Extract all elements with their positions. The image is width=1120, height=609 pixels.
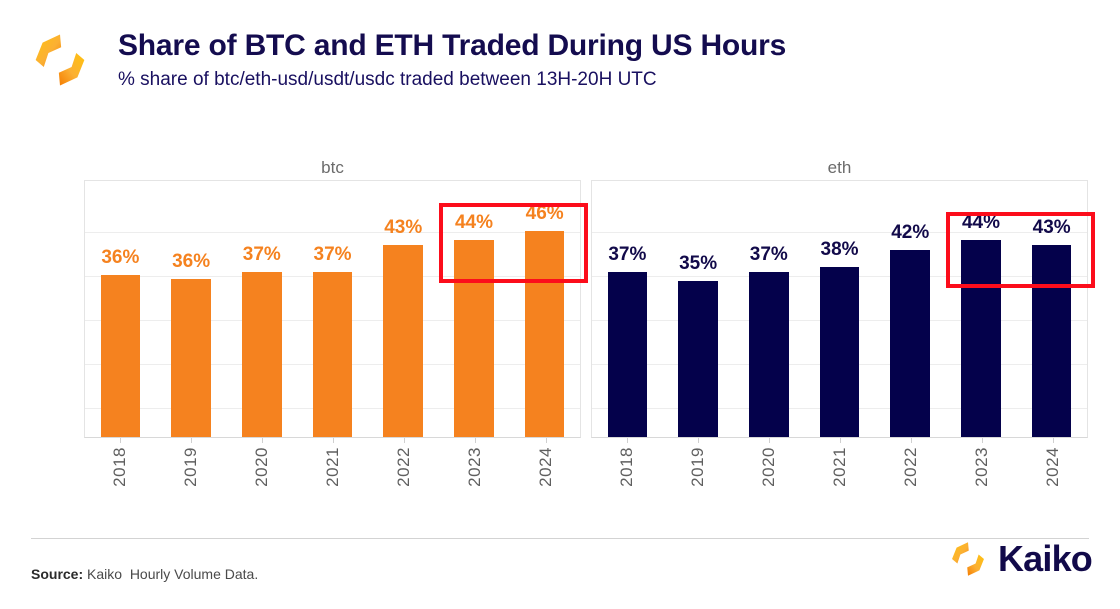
plot-area-btc: 36% 36% 37% 37: [84, 180, 581, 438]
x-tick-label: 2022: [901, 447, 921, 487]
bar-eth-2023[interactable]: 44%: [961, 240, 1001, 437]
x-tick: 2024: [510, 438, 581, 508]
source-note: Source: Kaiko Hourly Volume Data.: [31, 566, 258, 582]
bar-slot[interactable]: 37%: [592, 181, 663, 437]
bar-value-label: 35%: [679, 253, 717, 275]
bar-slot[interactable]: 36%: [156, 181, 227, 437]
bar-value-label: 36%: [172, 251, 210, 273]
x-axis-eth: 2018 2019 2020 2021 2022 2023 2024: [591, 438, 1088, 508]
bar-value-label: 38%: [821, 239, 859, 261]
bar-value-label: 46%: [526, 203, 564, 225]
x-axis-btc: 2018 2019 2020 2021 2022 2023 2024: [84, 438, 581, 508]
kaiko-logo-icon: [31, 31, 89, 89]
bar-value-label: 44%: [962, 212, 1000, 234]
bar-eth-2019[interactable]: 35%: [678, 281, 718, 437]
bar-btc-2021[interactable]: 37%: [313, 272, 353, 437]
x-tick: 2020: [226, 438, 297, 508]
x-tick: 2022: [368, 438, 439, 508]
page-subtitle: % share of btc/eth-usd/usdt/usdc traded …: [118, 69, 786, 91]
bar-eth-2021[interactable]: 38%: [820, 267, 860, 437]
source-text: Kaiko Hourly Volume Data.: [83, 566, 258, 582]
x-tick: 2021: [804, 438, 875, 508]
x-tick-label: 2019: [181, 447, 201, 487]
bar-value-label: 42%: [891, 222, 929, 244]
x-tick: 2021: [297, 438, 368, 508]
bar-btc-2020[interactable]: 37%: [242, 272, 282, 437]
bar-value-label: 36%: [101, 247, 139, 269]
x-tick-label: 2019: [688, 447, 708, 487]
footer-divider: [31, 538, 1089, 539]
page-title: Share of BTC and ETH Traded During US Ho…: [118, 29, 786, 63]
x-tick: 2019: [662, 438, 733, 508]
kaiko-logo-icon: [949, 540, 987, 578]
x-tick-label: 2023: [972, 447, 992, 487]
kaiko-wordmark: Kaiko: [998, 541, 1092, 577]
bar-slot[interactable]: 37%: [297, 181, 368, 437]
facet-title-eth: eth: [591, 158, 1088, 178]
x-tick: 2019: [155, 438, 226, 508]
x-tick: 2022: [875, 438, 946, 508]
x-tick: 2020: [733, 438, 804, 508]
bar-btc-2018[interactable]: 36%: [101, 275, 141, 437]
x-tick: 2023: [439, 438, 510, 508]
bar-slot[interactable]: 46%: [509, 181, 580, 437]
bar-eth-2022[interactable]: 42%: [890, 250, 930, 437]
bars-eth: 37% 35% 37% 38: [592, 181, 1087, 437]
bar-slot[interactable]: 44%: [946, 181, 1017, 437]
bar-value-label: 37%: [750, 244, 788, 266]
bar-eth-2018[interactable]: 37%: [608, 272, 648, 437]
bar-eth-2020[interactable]: 37%: [749, 272, 789, 437]
x-tick: 2018: [84, 438, 155, 508]
x-tick-label: 2018: [110, 447, 130, 487]
x-tick: 2024: [1017, 438, 1088, 508]
x-tick-label: 2021: [830, 447, 850, 487]
footer-logo: Kaiko: [949, 540, 1092, 578]
source-label: Source:: [31, 566, 83, 582]
plot-area-eth: 37% 35% 37% 38: [591, 180, 1088, 438]
bar-value-label: 43%: [384, 217, 422, 239]
facet-btc: btc 36% 36%: [84, 120, 581, 520]
bar-slot[interactable]: 42%: [875, 181, 946, 437]
bar-value-label: 44%: [455, 212, 493, 234]
title-block: Share of BTC and ETH Traded During US Ho…: [118, 29, 786, 90]
x-tick-label: 2022: [394, 447, 414, 487]
x-tick: 2023: [946, 438, 1017, 508]
x-tick-label: 2020: [252, 447, 272, 487]
page-header: Share of BTC and ETH Traded During US Ho…: [0, 0, 1120, 120]
bar-value-label: 43%: [1033, 217, 1071, 239]
x-tick-label: 2023: [465, 447, 485, 487]
bar-btc-2022[interactable]: 43%: [383, 245, 423, 437]
bar-value-label: 37%: [314, 244, 352, 266]
bar-btc-2019[interactable]: 36%: [171, 279, 211, 437]
x-tick-label: 2021: [323, 447, 343, 487]
chart-container: btc 36% 36%: [0, 120, 1120, 520]
bar-slot[interactable]: 37%: [733, 181, 804, 437]
facet-eth: eth 37% 35%: [591, 120, 1088, 520]
x-tick-label: 2020: [759, 447, 779, 487]
chart-facets: btc 36% 36%: [84, 120, 1088, 520]
bar-value-label: 37%: [608, 244, 646, 266]
x-tick-label: 2024: [536, 447, 556, 487]
bar-slot[interactable]: 37%: [226, 181, 297, 437]
bar-slot[interactable]: 43%: [1016, 181, 1087, 437]
x-tick: 2018: [591, 438, 662, 508]
x-tick-label: 2018: [617, 447, 637, 487]
bar-slot[interactable]: 44%: [439, 181, 510, 437]
bar-slot[interactable]: 43%: [368, 181, 439, 437]
bar-slot[interactable]: 36%: [85, 181, 156, 437]
facet-title-btc: btc: [84, 158, 581, 178]
bar-btc-2023[interactable]: 44%: [454, 240, 494, 437]
bar-slot[interactable]: 35%: [663, 181, 734, 437]
bar-slot[interactable]: 38%: [804, 181, 875, 437]
bar-value-label: 37%: [243, 244, 281, 266]
bars-btc: 36% 36% 37% 37: [85, 181, 580, 437]
x-tick-label: 2024: [1043, 447, 1063, 487]
bar-eth-2024[interactable]: 43%: [1032, 245, 1072, 437]
bar-btc-2024[interactable]: 46%: [525, 231, 565, 437]
